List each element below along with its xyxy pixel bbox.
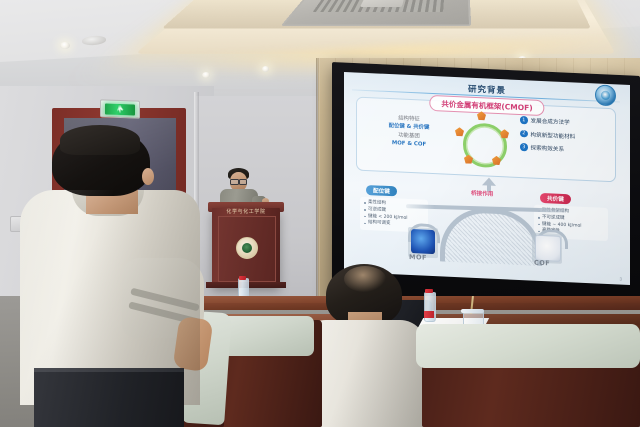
- bullet-text: 探索构效关系: [531, 143, 565, 153]
- recessed-downlight: [262, 66, 269, 72]
- slide-bullet: 2 构筑新型功能材料: [520, 129, 616, 141]
- recessed-downlight: [202, 72, 210, 78]
- air-conditioner-center-panel: [360, 0, 406, 7]
- presenter-glasses-icon: [230, 179, 247, 183]
- bottle-cap: [239, 276, 246, 280]
- upward-arrow-icon: [482, 177, 496, 186]
- projection-screen[interactable]: 研究背景 共价金属有机框架(CMOF) 结构特征 配位键 & 共价键 功能基团 …: [344, 72, 630, 285]
- bridge-illustration: MOF COF: [396, 196, 574, 262]
- cmof-ring-diagram: [454, 113, 510, 172]
- podium-inscription: 化学与化工学院: [218, 207, 274, 216]
- standing-man-hair-top: [60, 125, 140, 155]
- university-emblem-icon: [236, 237, 258, 259]
- wood-panel-edge: [316, 58, 320, 300]
- bullet-number-icon: 1: [520, 116, 528, 124]
- tag-center: 桥接作用: [464, 187, 500, 199]
- label-cof: COF: [534, 259, 550, 268]
- conference-room-photo: 研究背景 共价金属有机框架(CMOF) 结构特征 配位键 & 共价键 功能基团 …: [0, 0, 640, 427]
- bullet-text: 发展合成方法学: [531, 116, 570, 126]
- slide-bullet: 3 探索构效关系: [520, 143, 616, 155]
- bullet-text: 构筑新型功能材料: [531, 130, 576, 140]
- mof-molecule-icon: [411, 229, 435, 254]
- presentation-slide: 研究背景 共价金属有机框架(CMOF) 结构特征 配位键 & 共价键 功能基团 …: [344, 72, 630, 285]
- bottle-cap-second: [425, 289, 433, 293]
- standing-man-trousers: [34, 372, 184, 427]
- running-man-icon: [117, 105, 124, 113]
- ring-node: [455, 127, 464, 136]
- standing-man-ear: [142, 168, 154, 185]
- slide-bullet-list: 1 发展合成方法学 2 构筑新型功能材料 3 探索构效关系: [520, 116, 616, 161]
- bullet-number-icon: 2: [520, 130, 528, 138]
- seat-backrest[interactable]: [416, 324, 640, 368]
- bullet-number-icon: 3: [520, 143, 528, 151]
- tag-left: 配位键: [366, 185, 397, 197]
- slide-page-number: 3: [619, 277, 622, 282]
- exit-sign-icon: [105, 103, 135, 115]
- cof-molecule-icon: [535, 235, 561, 262]
- seated-man-scalp: [344, 266, 386, 292]
- university-logo-icon: [595, 84, 616, 106]
- bottle-label-second: [424, 311, 434, 318]
- bridge-main-arch: [440, 206, 542, 266]
- slide-left-column: 结构特征 配位键 & 共价键 功能基团 MOF & COF: [370, 113, 448, 150]
- recessed-downlight: [60, 42, 70, 49]
- exit-sign: [100, 99, 140, 118]
- cold-cup-lid: [461, 309, 484, 313]
- label-mof: MOF: [409, 253, 427, 262]
